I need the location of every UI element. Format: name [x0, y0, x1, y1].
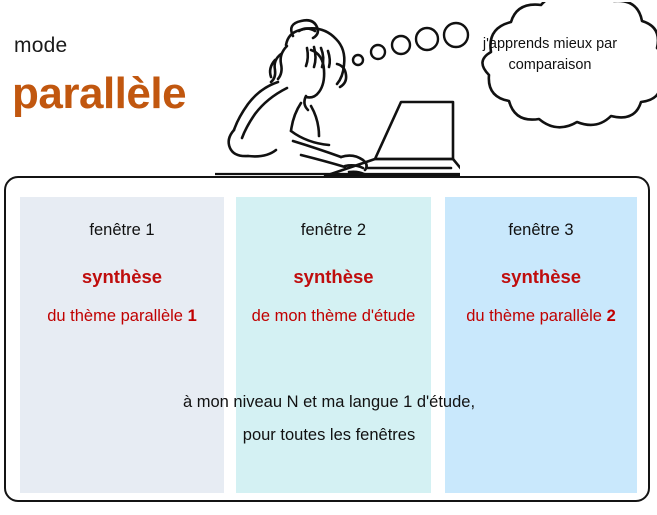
- subject-line-1-b: 1: [188, 307, 197, 325]
- thought-bubble-text: j'apprends mieux par comparaison: [470, 34, 630, 76]
- window-label-2: fenêtre 2: [236, 219, 431, 241]
- synthese-label-2: synthèse: [236, 265, 431, 289]
- parallel-mode-diagram: fenêtre 1 synthèse du thème parallèle 1 …: [4, 176, 650, 502]
- subject-line-3-a: du thème parallèle: [466, 307, 602, 325]
- subject-text-2: de mon thème d'étude: [236, 304, 431, 329]
- window-column-2: fenêtre 2 synthèse de mon thème d'étude: [236, 197, 431, 329]
- subject-text-3: du thème parallèle 2: [445, 304, 637, 329]
- synthese-label-1: synthèse: [20, 265, 224, 289]
- subject-line-2-b: d'étude: [362, 307, 416, 325]
- window-column-3: fenêtre 3 synthèse du thème parallèle 2: [445, 197, 637, 329]
- subject-text-1: du thème parallèle 1: [20, 304, 224, 329]
- page-title: parallèle: [12, 68, 186, 120]
- subject-line-1-a: du thème parallèle: [47, 307, 183, 325]
- window-label-3: fenêtre 3: [445, 219, 637, 241]
- header-area: mode parallèle: [0, 0, 657, 176]
- window-column-1: fenêtre 1 synthèse du thème parallèle 1: [20, 197, 224, 329]
- window-label-1: fenêtre 1: [20, 219, 224, 241]
- subject-line-2-a: de mon thème: [252, 307, 357, 325]
- synthese-label-3: synthèse: [445, 265, 637, 289]
- subject-line-3-b: 2: [607, 307, 616, 325]
- mode-label: mode: [14, 33, 67, 59]
